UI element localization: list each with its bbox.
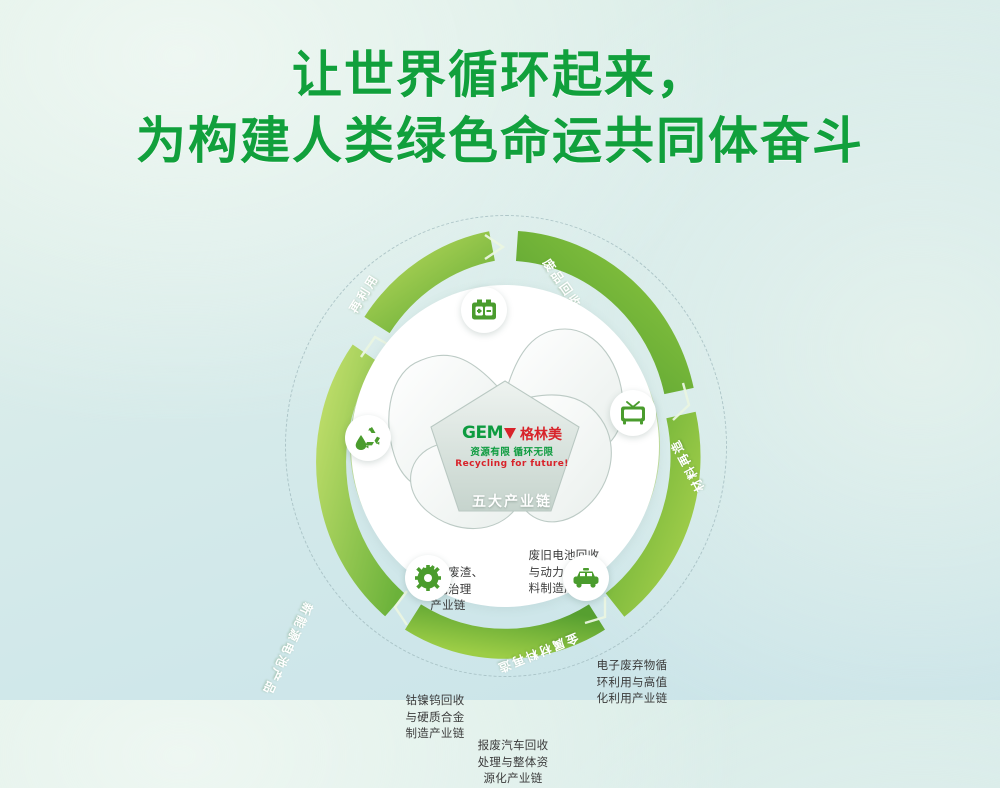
logo-slogan-en: Recycling for future! [448, 459, 576, 469]
poster-canvas: 让世界循环起来， 为构建人类绿色命运共同体奋斗 [0, 0, 1000, 700]
battery-icon-bubble [461, 287, 507, 333]
logo-latin-text: GEM [462, 425, 503, 442]
gem-logo: GEM 格林美 资源有限 循环无限 Recycling for future! [448, 425, 576, 469]
car-icon-bubble [563, 555, 609, 601]
recycle-drop-icon [354, 425, 382, 451]
battery-icon [471, 299, 497, 321]
logo-chinese-text: 格林美 [520, 427, 562, 441]
title-line-2: 为构建人类绿色命运共同体奋斗 [0, 108, 1000, 174]
center-logo-block: GEM 格林美 资源有限 循环无限 Recycling for future! … [448, 413, 576, 541]
segment-label-scrapcar: 报废汽车回收 处理与整体资 源化产业链 [463, 738, 563, 788]
tv-icon-bubble [610, 390, 656, 436]
tv-icon [620, 401, 646, 425]
title-line-1: 让世界循环起来， [0, 42, 1000, 108]
recycle-drop-icon-bubble [345, 415, 391, 461]
circular-economy-diagram: 再利用 废品回收 材料再造 金属材料再造 新能源电池产品 [285, 215, 725, 675]
car-icon [572, 568, 600, 588]
logo-slogan-cn: 资源有限 循环无限 [448, 444, 576, 458]
center-caption: 五大产业链 [448, 491, 576, 511]
gear-icon-bubble [405, 555, 451, 601]
logo-triangle-icon [504, 428, 516, 439]
page-title: 让世界循环起来， 为构建人类绿色命运共同体奋斗 [0, 42, 1000, 174]
gear-icon [415, 565, 441, 591]
segment-label-ewaste: 电子废弃物循 环利用与高值 化利用产业链 [583, 658, 681, 708]
segment-label-cobaltnickel: 钴镍钨回收 与硬质合金 制造产业链 [385, 693, 485, 743]
